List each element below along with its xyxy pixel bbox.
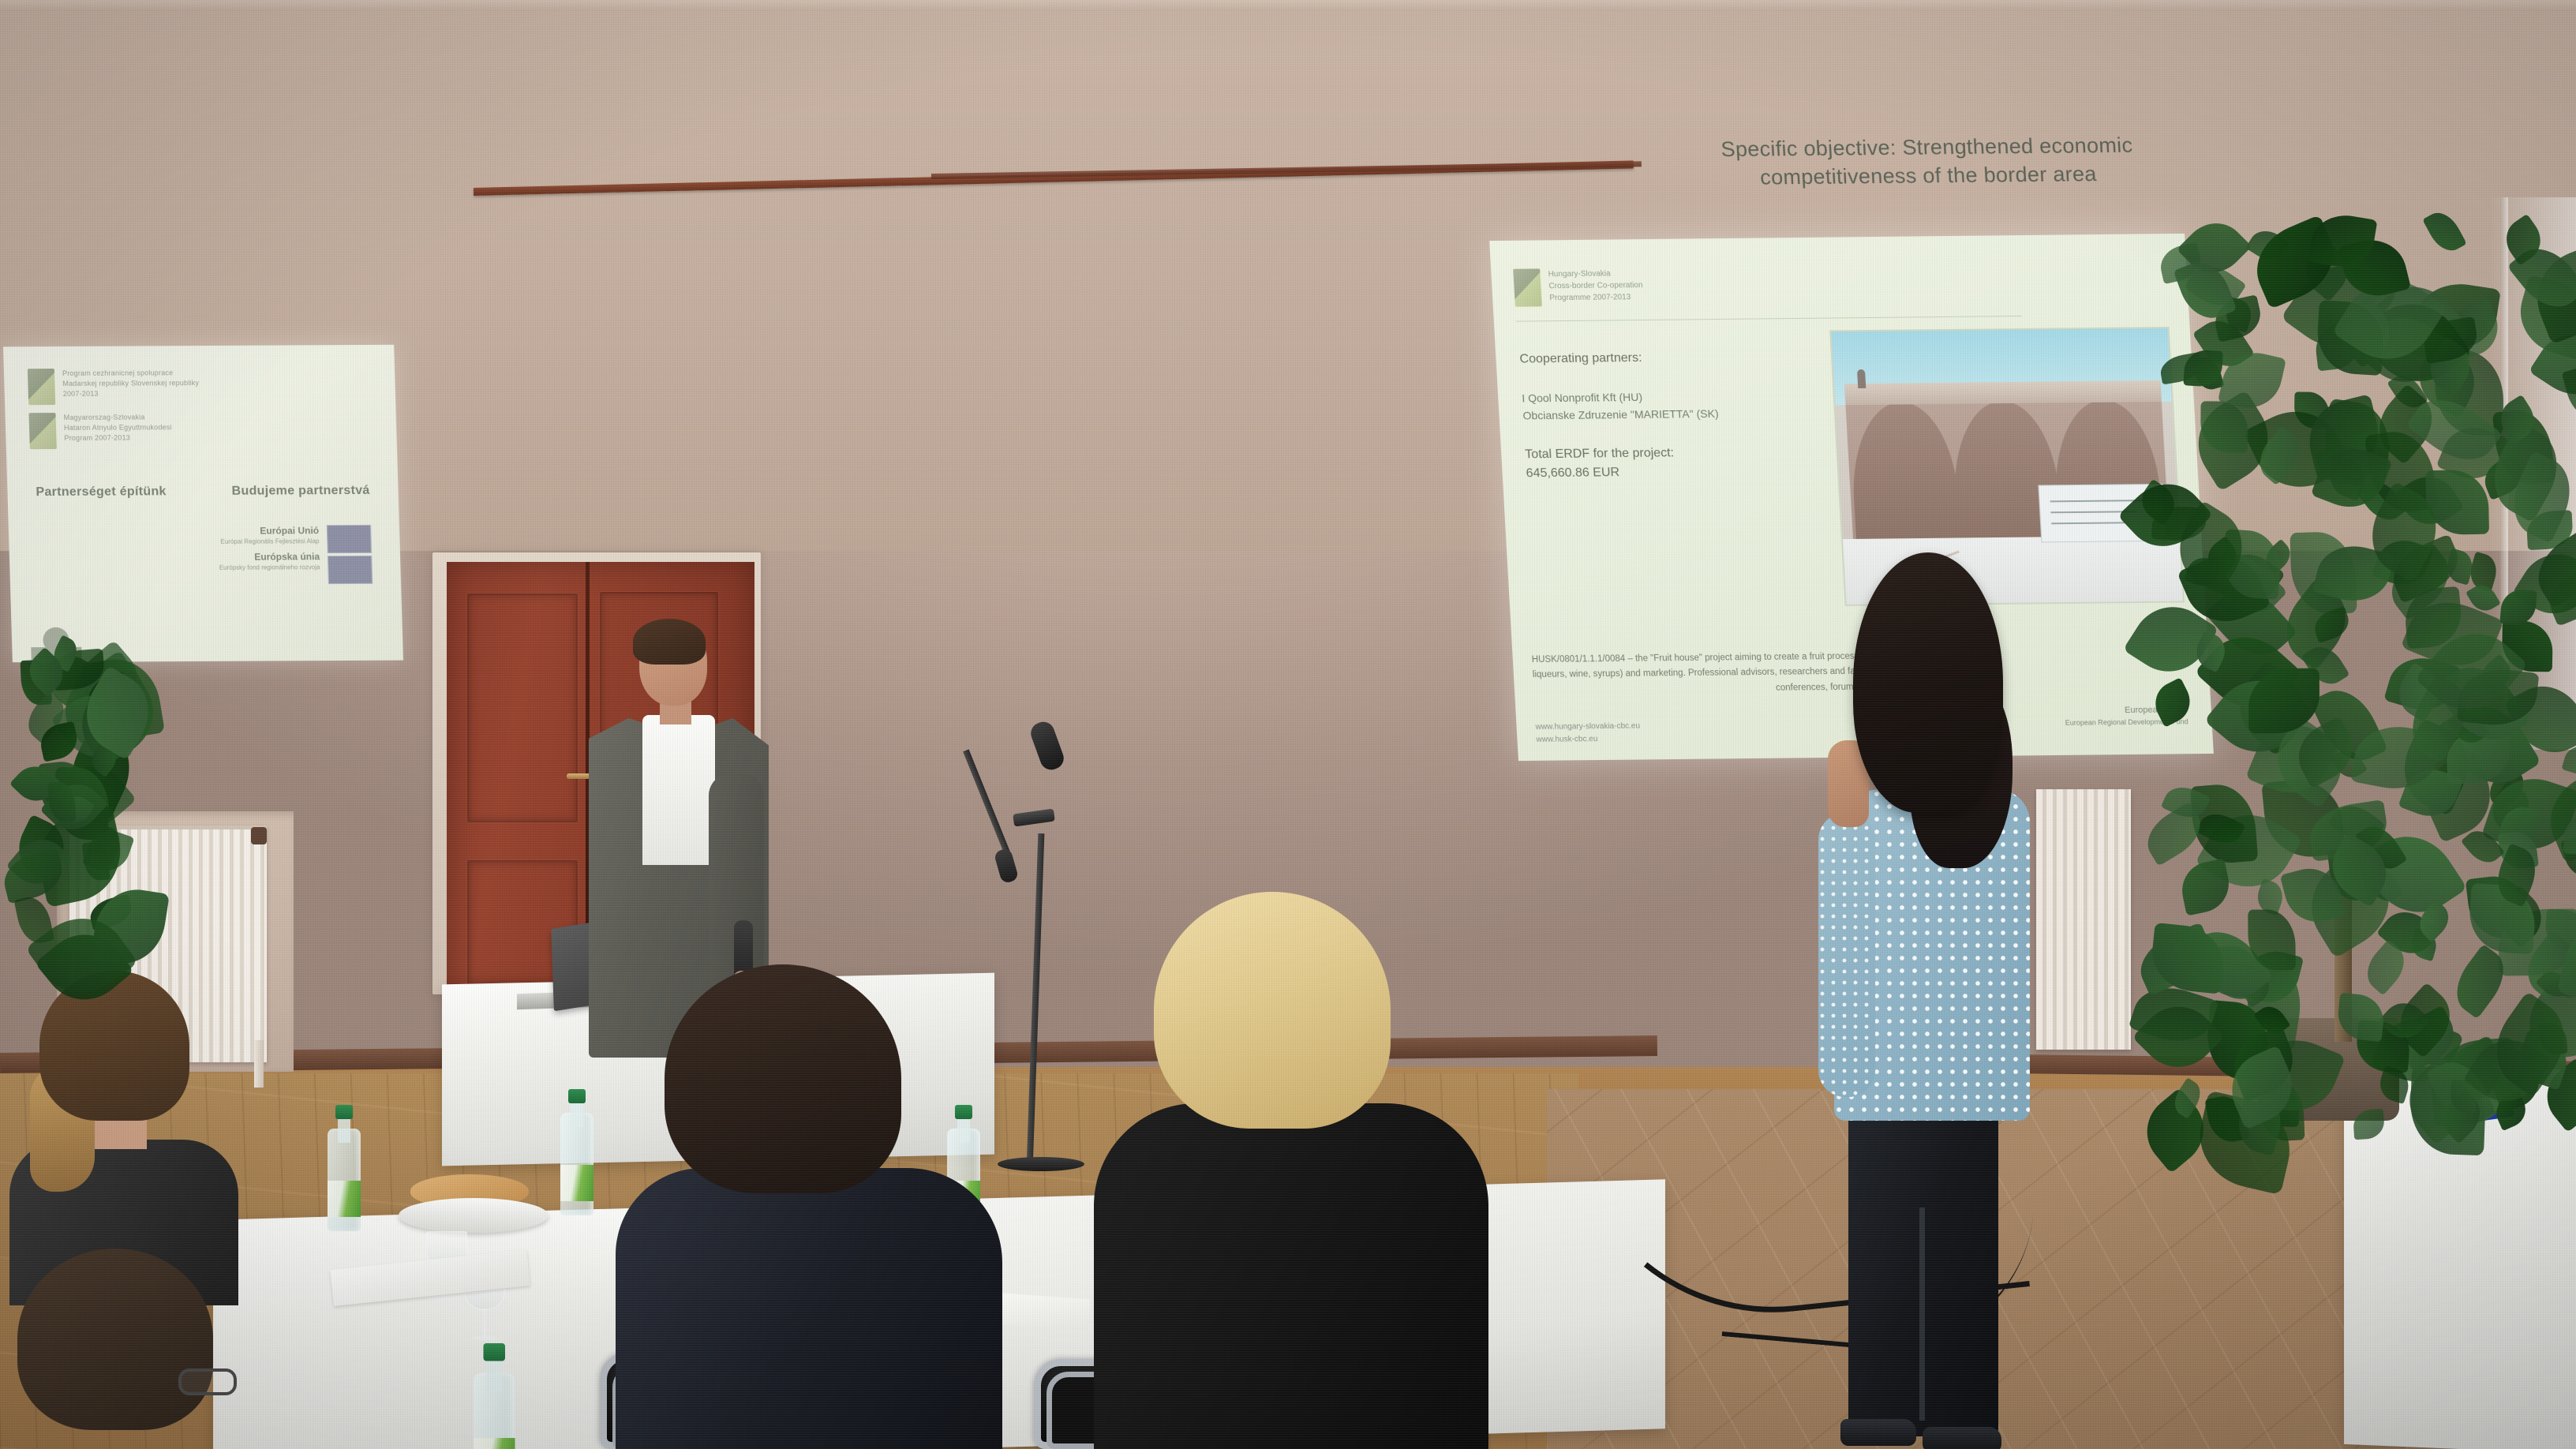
bottle-cap bbox=[335, 1105, 353, 1119]
eu-sub-hu: Európai Regionális Fejlesztési Alap bbox=[219, 537, 320, 546]
slide-divider bbox=[1516, 316, 2022, 322]
plant-leaf bbox=[2422, 207, 2467, 257]
bottle-neck bbox=[338, 1116, 350, 1143]
slide-logo-block: Hungary-Slovakia Cross-border Co-operati… bbox=[1513, 262, 2167, 307]
logo-text-line3: 2007-2013 bbox=[63, 388, 200, 399]
logo-text2-line2: Hataron Atnyulo Egyuttmukodesi bbox=[64, 422, 172, 433]
glass-foot bbox=[472, 1335, 497, 1341]
bottle-label bbox=[328, 1181, 361, 1217]
mic-stand-pole bbox=[1027, 833, 1045, 1168]
husk-programme-logo-icon bbox=[1513, 268, 1542, 306]
mic-stand-counterweight bbox=[994, 848, 1020, 884]
potted-plant-left bbox=[0, 631, 103, 947]
bottle-cap bbox=[568, 1089, 586, 1103]
photo-roof-band bbox=[1844, 380, 2162, 406]
plant-leaf bbox=[2148, 678, 2198, 728]
bottle-neck bbox=[571, 1100, 583, 1127]
presenter-leg-split bbox=[1919, 1207, 1925, 1421]
presenter-hair bbox=[1853, 552, 2003, 813]
logo-text-line1: Program cezhranicnej spoluprace bbox=[62, 368, 199, 379]
slide-title-line2: competitiveness of the border area bbox=[1651, 159, 2206, 193]
plant-leaf bbox=[2562, 363, 2576, 422]
audience-head bbox=[17, 1249, 213, 1430]
eu-title-hu: Európai Unió bbox=[218, 525, 319, 537]
slide-logo-text: Hungary-Slovakia Cross-border Co-operati… bbox=[1548, 268, 1644, 304]
slide-urls: www.hungary-slovakia-cbc.eu www.husk-cbc… bbox=[1535, 721, 1641, 747]
bottle-cap bbox=[484, 1343, 506, 1361]
speaker-hair bbox=[633, 619, 706, 665]
radiator-right bbox=[2036, 789, 2131, 1050]
water-bottle[interactable] bbox=[328, 1105, 361, 1231]
eyeglasses-icon bbox=[178, 1368, 237, 1395]
url-link-1[interactable]: www.hungary-slovakia-cbc.eu bbox=[1535, 721, 1640, 734]
audience-member bbox=[623, 964, 994, 1449]
erdf-amount: 645,660.86 EUR bbox=[1526, 461, 1866, 483]
audience-body bbox=[616, 1168, 1002, 1449]
logo-line-3: Programme 2007-2013 bbox=[1549, 291, 1644, 304]
logo-text2-line1: Magyarorszag-Szlovakia bbox=[64, 412, 172, 423]
projection-screen-left: Program cezhranicnej spoluprace Madarske… bbox=[3, 345, 403, 662]
url-link-2[interactable]: www.husk-cbc.eu bbox=[1536, 733, 1641, 747]
potted-plant-right bbox=[2131, 205, 2576, 1121]
bottle-neck bbox=[486, 1357, 502, 1391]
left-slide-logo-text-1: Program cezhranicnej spoluprace Madarske… bbox=[62, 368, 200, 399]
eu-attribution-block: Európai Unió Európai Regionális Fejleszt… bbox=[32, 525, 377, 588]
conference-room-photo: Program cezhranicnej spoluprace Madarske… bbox=[0, 0, 2576, 1449]
mic-stand-boom bbox=[963, 749, 1013, 861]
left-slide-logo-block-2: Magyarorszag-Szlovakia Hataron Atnyulo E… bbox=[28, 411, 373, 449]
presenter-woman bbox=[1807, 552, 2044, 1449]
eu-flag-icon-1 bbox=[327, 525, 372, 553]
door-panel-upper-left bbox=[467, 593, 578, 822]
audience-member-foreground bbox=[0, 1249, 260, 1449]
slide-body-text: Cooperating partners: I Qool Nonprofit K… bbox=[1519, 346, 1866, 483]
mic-stand-clamp[interactable] bbox=[1013, 808, 1055, 826]
bottle-label bbox=[560, 1165, 593, 1201]
radiator-pipe bbox=[254, 1040, 264, 1088]
left-slide-logo-text-2: Magyarorszag-Szlovakia Hataron Atnyulo E… bbox=[64, 412, 173, 444]
eu-flag-icon-2 bbox=[328, 556, 373, 584]
husk-logo-icon-2 bbox=[28, 413, 56, 449]
slide-title: Specific objective: Strengthened economi… bbox=[1649, 131, 2206, 193]
plant-leaf bbox=[2500, 589, 2537, 627]
plant-leaf bbox=[2177, 859, 2234, 916]
presenter-shoe-left bbox=[1840, 1419, 1916, 1446]
logo-line-1: Hungary-Slovakia bbox=[1548, 268, 1642, 280]
mic-stand-base bbox=[998, 1157, 1084, 1171]
slide-title-line1: Specific objective: Strengthened economi… bbox=[1649, 131, 2204, 165]
audience-member bbox=[1105, 892, 1492, 1449]
heading-hungarian: Partnerséget építünk bbox=[36, 485, 167, 500]
water-bottle[interactable] bbox=[474, 1343, 515, 1449]
eu-flag-block bbox=[327, 525, 373, 586]
water-bottle[interactable] bbox=[560, 1089, 593, 1215]
audience-body bbox=[1094, 1103, 1488, 1449]
eu-sub-sk: Európsky fond regionálneho rozvoja bbox=[219, 563, 320, 572]
eu-attribution-text: Európai Unió Európai Regionális Fejleszt… bbox=[218, 525, 320, 578]
presenter-arm bbox=[1818, 813, 1875, 1097]
eu-title-sk: Európska únia bbox=[219, 551, 320, 563]
radiator-valve[interactable] bbox=[251, 827, 267, 844]
audience-hair-blonde bbox=[1154, 892, 1391, 1129]
microphone-icon bbox=[1028, 719, 1066, 773]
plant-leaf bbox=[2567, 613, 2576, 690]
plant-leaf bbox=[2336, 993, 2386, 1043]
glass-stem bbox=[483, 1309, 486, 1337]
speaker-shirt bbox=[642, 715, 715, 865]
husk-logo-icon bbox=[28, 369, 55, 405]
audience-hair bbox=[665, 964, 901, 1193]
photo-chimney-figure bbox=[1857, 369, 1866, 388]
left-slide-logo-block-1: Program cezhranicnej spoluprace Madarske… bbox=[28, 367, 372, 405]
logo-text2-line3: Program 2007-2013 bbox=[64, 432, 172, 444]
ceiling-edge bbox=[0, 0, 2576, 11]
logo-line-2: Cross-border Co-operation bbox=[1548, 279, 1643, 292]
bottle-label bbox=[474, 1438, 515, 1449]
heading-slovak: Budujeme partnerstvá bbox=[231, 484, 370, 499]
presenter-shoe-right bbox=[1923, 1427, 2001, 1449]
board-line-3 bbox=[2051, 522, 2125, 524]
logo-text-line2: Madarskej republiky Slovenskej republiky bbox=[62, 378, 199, 389]
left-slide-headings: Partnerséget építünk Budujeme partnerstv… bbox=[31, 484, 375, 500]
serving-plate bbox=[399, 1198, 549, 1233]
